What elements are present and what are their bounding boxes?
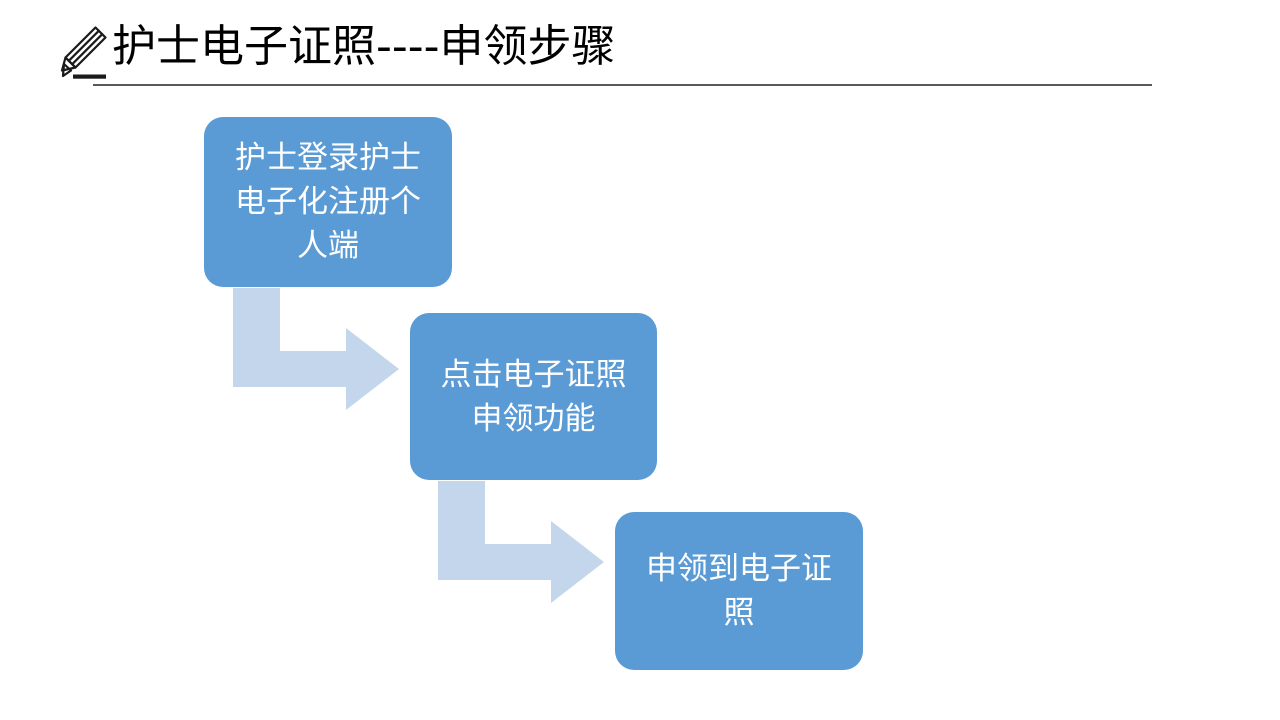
slide-title-bar: 护士电子证照----申领步骤 [0,0,1280,100]
flow-step-label-3: 申领到电子证照 [622,547,856,635]
page-title: 护士电子证照----申领步骤 [112,18,1152,76]
pencil-icon [55,22,111,86]
slide-canvas: 护士电子证照----申领步骤 护士登录护士电子化注册个人端 点击电子证照申领功能… [0,0,1280,720]
elbow-arrow-step1-to-step2 [233,288,399,420]
flow-step-box-2[interactable]: 点击电子证照申领功能 [410,313,657,480]
flow-step-label-1: 护士登录护士电子化注册个人端 [207,136,449,268]
title-divider [93,84,1152,86]
flow-step-label-2: 点击电子证照申领功能 [412,353,656,441]
flow-step-box-1[interactable]: 护士登录护士电子化注册个人端 [204,117,452,287]
elbow-arrow-step2-to-step3 [438,481,604,613]
flow-step-box-3[interactable]: 申领到电子证照 [615,512,863,670]
